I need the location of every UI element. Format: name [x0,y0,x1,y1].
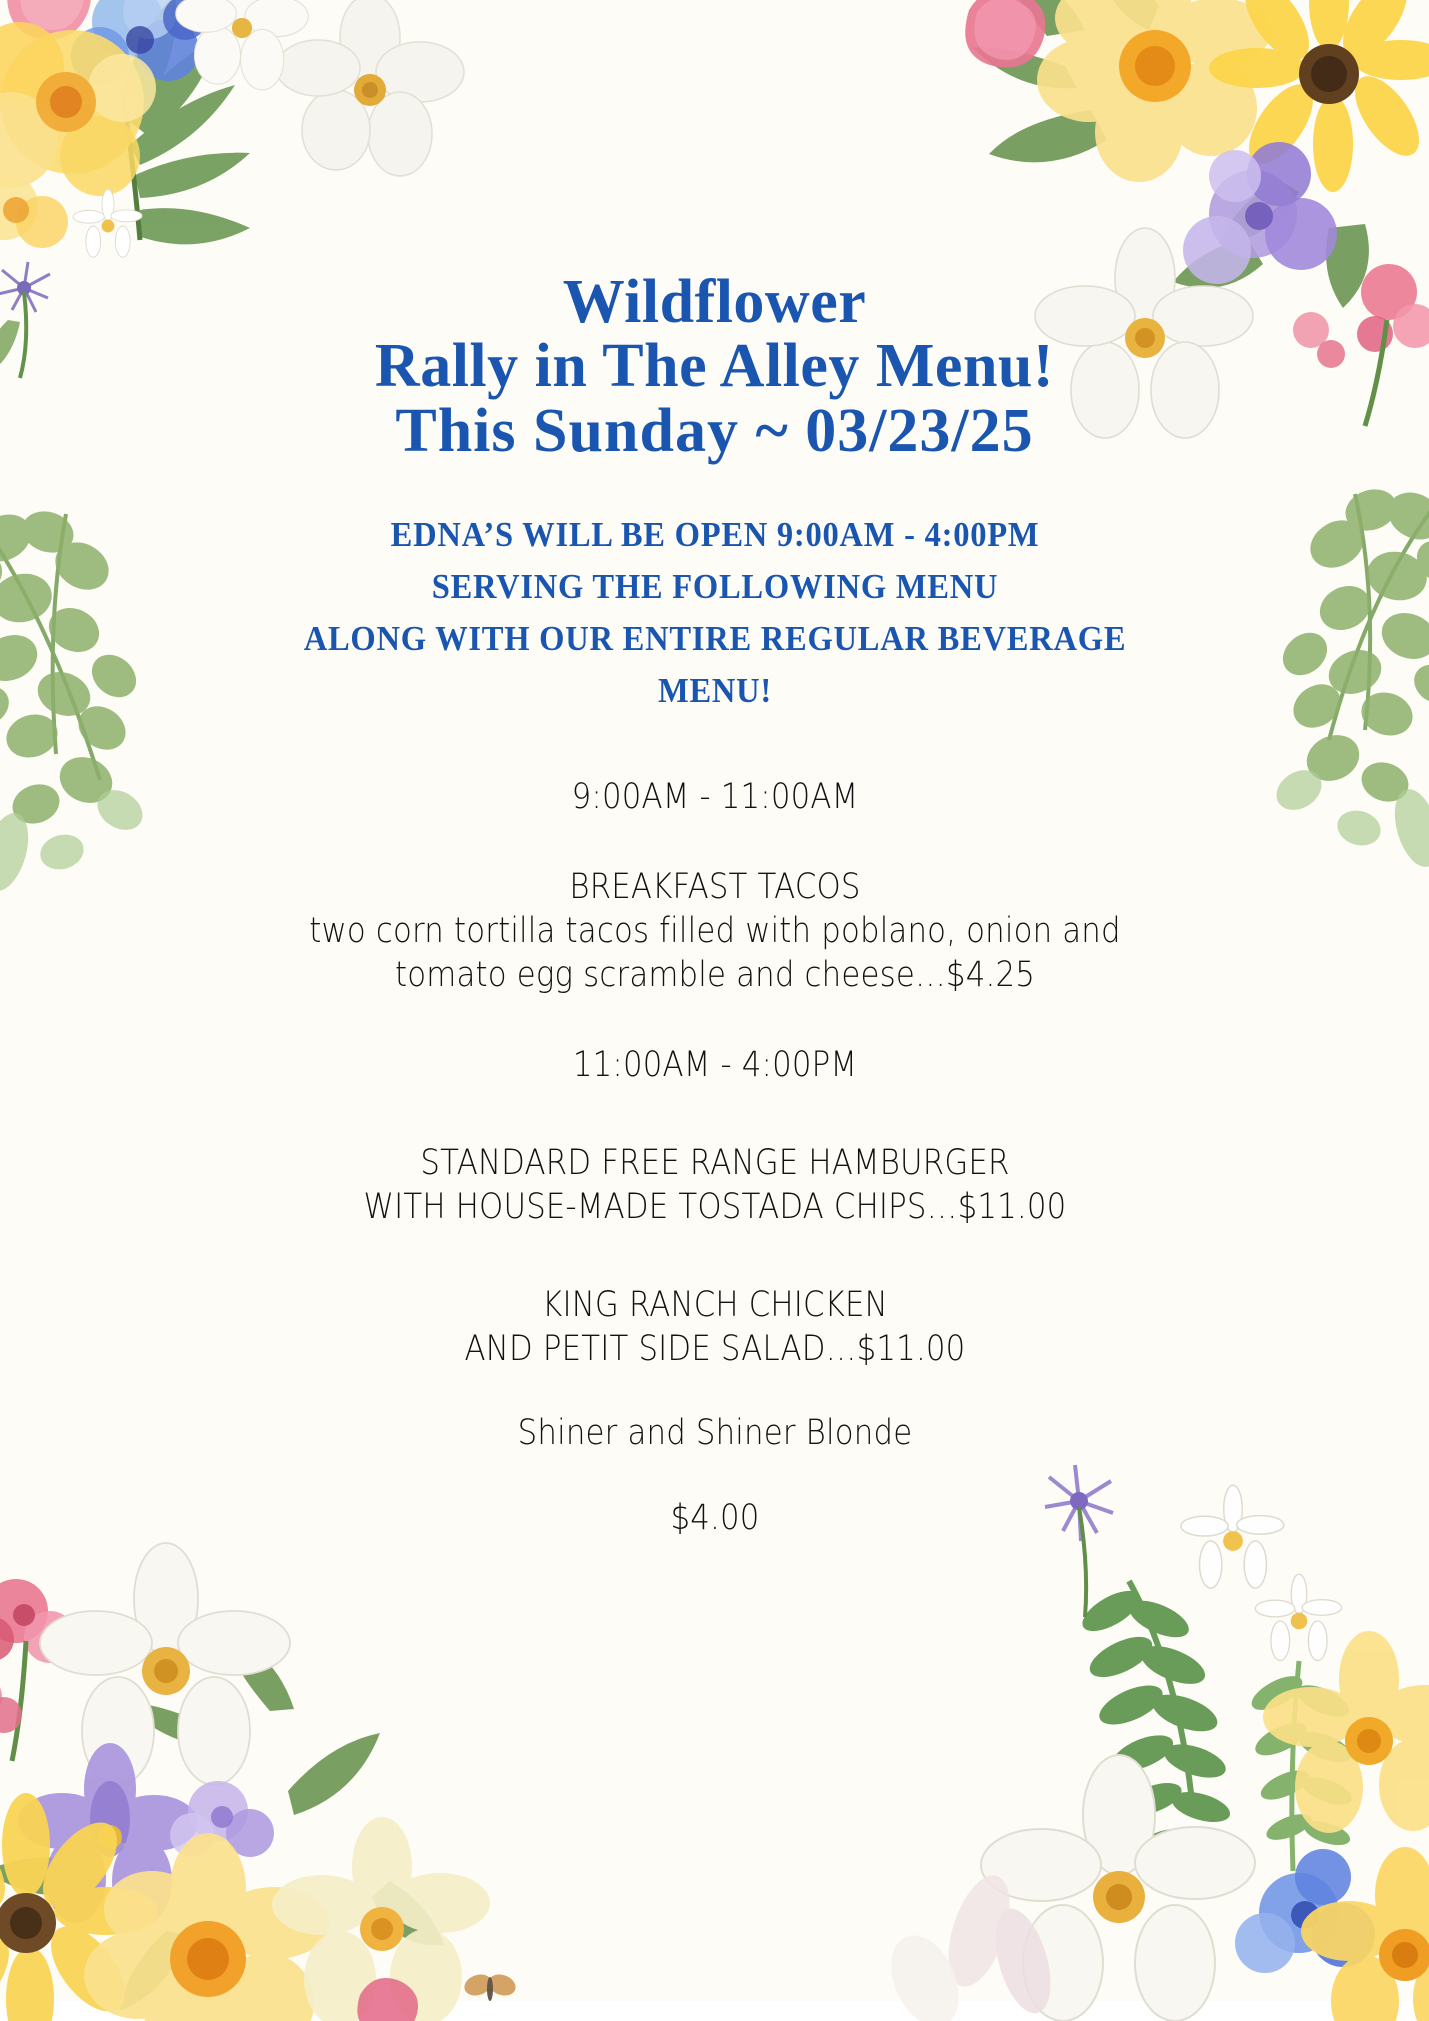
subtitle-menu-line: MENU! [208,665,1222,717]
spacer [140,819,1290,865]
title-block: Wildflower Rally in The Alley Menu! This… [125,270,1305,463]
subtitle-hours-line: EDNA’S WILL BE OPEN 9:00AM - 4:00PM [208,509,1222,561]
beverage-name: Shiner and Shiner Blonde [209,1411,1221,1455]
breakfast-hours: 9:00AM - 11:00AM [209,775,1221,819]
lunch-hours: 11:00AM - 4:00PM [209,1043,1221,1087]
menu-block: 9:00AM - 11:00AM BREAKFAST TACOS two cor… [140,775,1290,1540]
title-line-3: This Sunday ~ 03/23/25 [125,399,1305,463]
lunch-item-2-line-2: AND PETIT SIDE SALAD…$11.00 [209,1327,1221,1371]
breakfast-item-desc-2: tomato egg scramble and cheese…$4.25 [209,953,1221,997]
subtitle-serving-line: SERVING THE FOLLOWING MENU [208,561,1222,613]
spacer [140,1229,1290,1283]
lunch-item-2-line-1: KING RANCH CHICKEN [209,1283,1221,1327]
beverage-price: $4.00 [209,1496,1221,1540]
flyer-canvas: Wildflower Rally in The Alley Menu! This… [0,0,1429,2001]
spacer [140,997,1290,1043]
flyer-content: Wildflower Rally in The Alley Menu! This… [0,270,1429,1540]
subtitle-block: EDNA’S WILL BE OPEN 9:00AM - 4:00PM SERV… [170,509,1260,716]
title-line-1: Wildflower [125,270,1305,334]
lunch-item-1-line-1: STANDARD FREE RANGE HAMBURGER [209,1141,1221,1185]
subtitle-beverage-line: ALONG WITH OUR ENTIRE REGULAR BEVERAGE [208,613,1222,665]
breakfast-item-name: BREAKFAST TACOS [209,865,1221,909]
bottom-left-floral-decoration [0,1461,590,2021]
spacer [140,1371,1290,1411]
lunch-item-1-line-2: WITH HOUSE-MADE TOSTADA CHIPS…$11.00 [209,1185,1221,1229]
spacer [140,1087,1290,1141]
spacer [140,1456,1290,1496]
breakfast-item-desc-1: two corn tortilla tacos filled with pobl… [209,909,1221,953]
bottom-right-floral-decoration [829,1461,1429,2021]
title-line-2: Rally in The Alley Menu! [125,334,1305,398]
